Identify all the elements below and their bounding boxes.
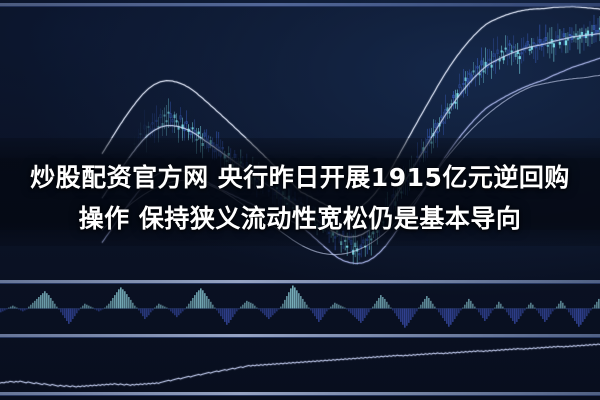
headline-line-2: 操作 保持狭义流动性宽松仍是基本导向: [0, 199, 600, 239]
headline-line-1: 炒股配资官方网 央行昨日开展1915亿元逆回购: [0, 158, 600, 198]
panel-separator-bottom-sub: [0, 395, 600, 396]
top-highlight-rule-sub: [0, 6, 600, 7]
panel-separator-macd-bottom-sub: [0, 337, 600, 338]
news-banner: 炒股配资官方网 央行昨日开展1915亿元逆回购 操作 保持狭义流动性宽松仍是基本…: [0, 0, 600, 400]
headline: 炒股配资官方网 央行昨日开展1915亿元逆回购 操作 保持狭义流动性宽松仍是基本…: [0, 158, 600, 239]
panel-separator-macd-top-sub: [0, 283, 600, 284]
